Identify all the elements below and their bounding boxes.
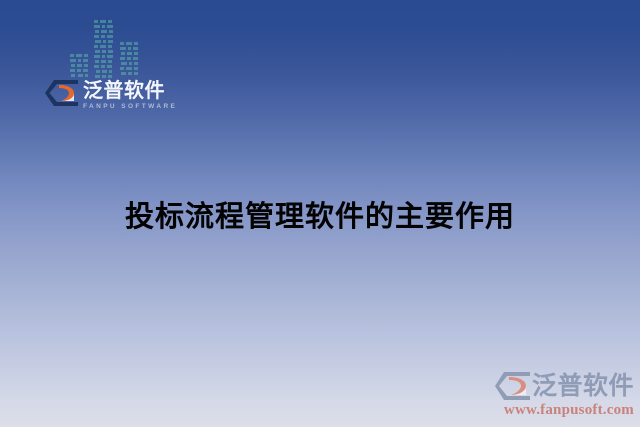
watermark-logo-row: 泛普软件 bbox=[486, 371, 634, 401]
fanpu-hexagon-logo-mark-icon bbox=[494, 371, 530, 401]
brand-text-block: 泛普软件 FANPU SOFTWARE bbox=[83, 79, 177, 111]
watermark-url: www.fanpusoft.com bbox=[486, 402, 634, 419]
presentation-slide: 泛普软件 FANPU SOFTWARE 投标流程管理软件的主要作用 泛普软件 w… bbox=[0, 0, 640, 427]
slide-title: 投标流程管理软件的主要作用 bbox=[0, 196, 640, 236]
brand-name-cn: 泛普软件 bbox=[83, 79, 177, 101]
slide-title-container: 投标流程管理软件的主要作用 bbox=[0, 196, 640, 236]
brand-name-en: FANPU SOFTWARE bbox=[83, 102, 177, 111]
pixel-cityscape-graphic bbox=[68, 14, 146, 82]
fanpu-hexagon-logo-mark-icon bbox=[45, 80, 78, 106]
brand-logo: 泛普软件 FANPU SOFTWARE bbox=[45, 79, 177, 111]
watermark-name-cn: 泛普软件 bbox=[532, 372, 634, 400]
watermark: 泛普软件 www.fanpusoft.com bbox=[486, 371, 634, 419]
